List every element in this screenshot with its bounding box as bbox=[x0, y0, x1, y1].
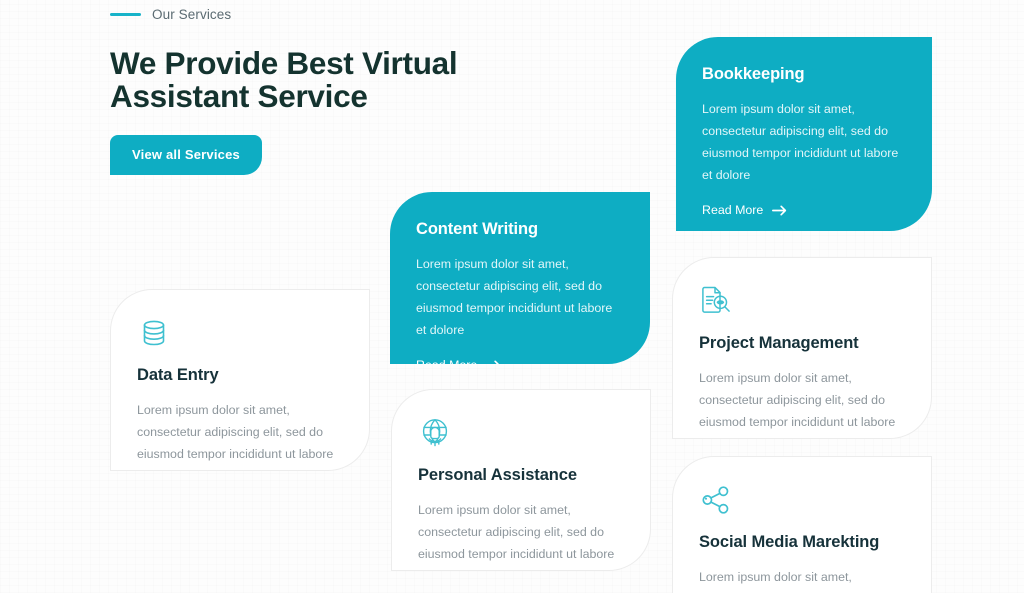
service-card-social-media-marekting[interactable]: Social Media Marekting Lorem ipsum dolor… bbox=[672, 456, 932, 593]
service-card-bookkeeping[interactable]: Bookkeeping Lorem ipsum dolor sit amet, … bbox=[676, 37, 932, 231]
read-more-link[interactable]: Read More bbox=[702, 203, 787, 217]
service-card-project-management[interactable]: Project Management Lorem ipsum dolor sit… bbox=[672, 257, 932, 439]
card-content: Project Management Lorem ipsum dolor sit… bbox=[673, 258, 931, 438]
service-card-content-writing[interactable]: Content Writing Lorem ipsum dolor sit am… bbox=[390, 192, 650, 364]
read-more-link[interactable]: Read More bbox=[416, 358, 501, 364]
card-description: Lorem ipsum dolor sit amet, consectetur … bbox=[702, 98, 906, 186]
globe-headset-icon bbox=[418, 416, 452, 450]
eyebrow-label: Our Services bbox=[152, 7, 231, 22]
services-section: Our Services We Provide Best Virtual Ass… bbox=[0, 0, 1024, 593]
card-content: Social Media Marekting Lorem ipsum dolor… bbox=[673, 457, 931, 593]
read-more-label: Read More bbox=[702, 203, 763, 217]
card-description: Lorem ipsum dolor sit amet, consectetur … bbox=[416, 253, 624, 341]
card-description: Lorem ipsum dolor sit amet, consectetur … bbox=[699, 367, 905, 439]
card-description: Lorem ipsum dolor sit amet, consectetur … bbox=[137, 399, 343, 471]
card-title: Bookkeeping bbox=[702, 65, 906, 84]
service-card-personal-assistance[interactable]: Personal Assistance Lorem ipsum dolor si… bbox=[391, 389, 651, 571]
arrow-right-icon bbox=[486, 359, 501, 364]
eyebrow: Our Services bbox=[110, 0, 530, 28]
card-description: Lorem ipsum dolor sit amet, consectetur … bbox=[418, 499, 624, 571]
arrow-right-icon bbox=[772, 204, 787, 217]
card-title: Social Media Marekting bbox=[699, 533, 905, 552]
page-title: We Provide Best Virtual Assistant Servic… bbox=[110, 47, 490, 114]
card-title: Data Entry bbox=[137, 366, 343, 385]
card-content: Data Entry Lorem ipsum dolor sit amet, c… bbox=[111, 290, 369, 470]
database-icon bbox=[137, 316, 171, 350]
card-content: Bookkeeping Lorem ipsum dolor sit amet, … bbox=[676, 37, 932, 231]
document-search-icon bbox=[699, 284, 733, 318]
card-title: Content Writing bbox=[416, 220, 624, 239]
section-header: Our Services We Provide Best Virtual Ass… bbox=[110, 0, 530, 175]
horizontal-dash-icon bbox=[110, 13, 141, 16]
card-description: Lorem ipsum dolor sit amet, consectetur … bbox=[699, 566, 905, 593]
view-all-services-button[interactable]: View all Services bbox=[110, 135, 262, 175]
card-title: Personal Assistance bbox=[418, 466, 624, 485]
card-content: Personal Assistance Lorem ipsum dolor si… bbox=[392, 390, 650, 570]
service-card-data-entry[interactable]: Data Entry Lorem ipsum dolor sit amet, c… bbox=[110, 289, 370, 471]
card-title: Project Management bbox=[699, 334, 905, 353]
card-content: Content Writing Lorem ipsum dolor sit am… bbox=[390, 192, 650, 364]
share-network-icon bbox=[699, 483, 733, 517]
read-more-label: Read More bbox=[416, 358, 477, 364]
